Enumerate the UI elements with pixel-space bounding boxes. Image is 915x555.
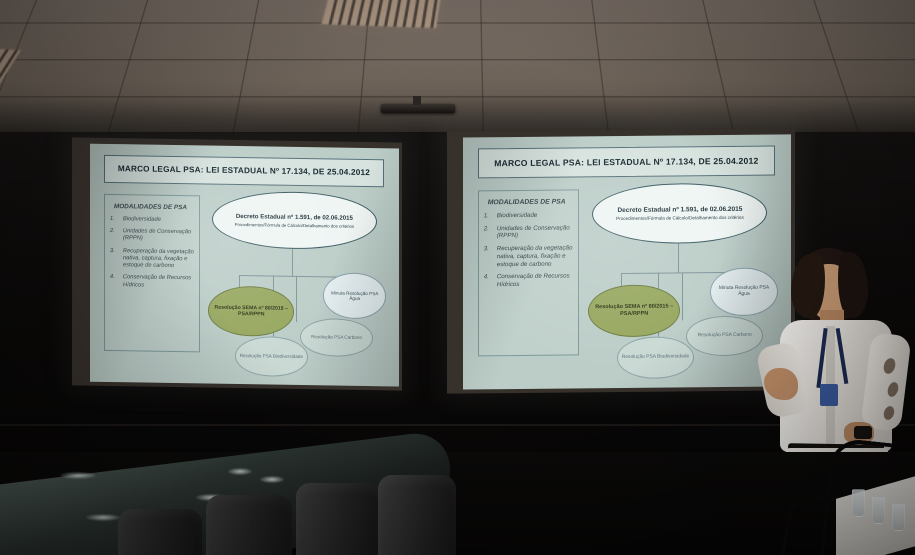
slide-right: MARCO LEGAL PSA: LEI ESTADUAL Nº 17.134,… bbox=[463, 134, 791, 389]
presentation-clicker-icon bbox=[854, 426, 872, 439]
chair bbox=[296, 483, 380, 555]
ceiling-light-icon bbox=[321, 0, 442, 28]
list-item: 4. Conservação de Recursos Hídricos bbox=[110, 274, 195, 290]
ceiling-sensor-bar-icon bbox=[381, 104, 455, 113]
table-reflection bbox=[86, 514, 120, 521]
table-reflection bbox=[60, 472, 96, 479]
modalities-heading: MODALIDADES DE PSA bbox=[488, 198, 575, 206]
table-reflection bbox=[228, 468, 252, 475]
connector bbox=[682, 272, 683, 320]
list-item: 3. Recuperação da vegetação nativa, capt… bbox=[484, 245, 575, 269]
list-item: 4. Conservação de Recursos Hídricos bbox=[484, 273, 575, 289]
connector bbox=[678, 244, 679, 272]
list-item: 2. Unidades de Conservação (RPPN) bbox=[484, 224, 575, 240]
diagram-node-biodiversidade: Resolução PSA Biodiversidade bbox=[617, 336, 694, 379]
diagram-node-sema: Resolução SEMA nº 80/2015 – PSA/RPPN bbox=[588, 284, 680, 337]
slide-title: MARCO LEGAL PSA: LEI ESTADUAL Nº 17.134,… bbox=[104, 155, 384, 188]
modalities-list: 1. Biodiversidade 2. Unidades de Conserv… bbox=[110, 216, 195, 290]
presenter-hair-left bbox=[791, 254, 825, 318]
modalities-box: MODALIDADES DE PSA 1. Biodiversidade 2. … bbox=[104, 194, 200, 353]
list-item: 1. Biodiversidade bbox=[484, 211, 575, 220]
diagram-node-carbono: Resolução PSA Carbono bbox=[686, 316, 763, 357]
diagram-node-carbono: Resolução PSA Carbono bbox=[300, 318, 373, 357]
diagram-node-biodiversidade: Resolução PSA Biodiversidade bbox=[235, 336, 308, 377]
chair bbox=[378, 475, 456, 555]
diagram-node-decreto: Decreto Estadual nº 1.591, de 02.06.2015… bbox=[592, 182, 767, 244]
slide-title: MARCO LEGAL PSA: LEI ESTADUAL Nº 17.134,… bbox=[478, 146, 775, 179]
slide-left: MARCO LEGAL PSA: LEI ESTADUAL Nº 17.134,… bbox=[90, 144, 399, 387]
connector bbox=[292, 249, 293, 276]
table-reflection bbox=[260, 476, 284, 483]
presenter-hair-right bbox=[838, 252, 868, 318]
modalities-box: MODALIDADES DE PSA 1. Biodiversidade 2. … bbox=[478, 189, 580, 356]
conference-room-scene: MARCO LEGAL PSA: LEI ESTADUAL Nº 17.134,… bbox=[0, 0, 915, 555]
projection-screen-left: MARCO LEGAL PSA: LEI ESTADUAL Nº 17.134,… bbox=[72, 137, 402, 390]
connector bbox=[296, 276, 297, 322]
chair bbox=[118, 509, 202, 555]
water-glass bbox=[892, 503, 905, 531]
diagram-node-decreto: Decreto Estadual nº 1.591, de 02.06.2015… bbox=[212, 191, 377, 251]
list-item: 2. Unidades de Conservação (RPPN) bbox=[110, 228, 195, 244]
diagram-node-agua: Minuta Resolução PSA Água bbox=[323, 273, 386, 320]
lanyard-badge bbox=[820, 384, 838, 406]
modalities-list: 1. Biodiversidade 2. Unidades de Conserv… bbox=[484, 211, 575, 289]
diagram: Decreto Estadual nº 1.591, de 02.06.2015… bbox=[204, 191, 396, 384]
list-item: 3. Recuperação da vegetação nativa, capt… bbox=[110, 248, 195, 271]
chair bbox=[206, 495, 292, 555]
projection-screen-right: MARCO LEGAL PSA: LEI ESTADUAL Nº 17.134,… bbox=[447, 128, 795, 393]
modalities-heading: MODALIDADES DE PSA bbox=[114, 203, 195, 211]
diagram-node-sema: Resolução SEMA nº 80/2015 – PSA/RPPN bbox=[208, 286, 294, 337]
list-item: 1. Biodiversidade bbox=[110, 216, 195, 225]
